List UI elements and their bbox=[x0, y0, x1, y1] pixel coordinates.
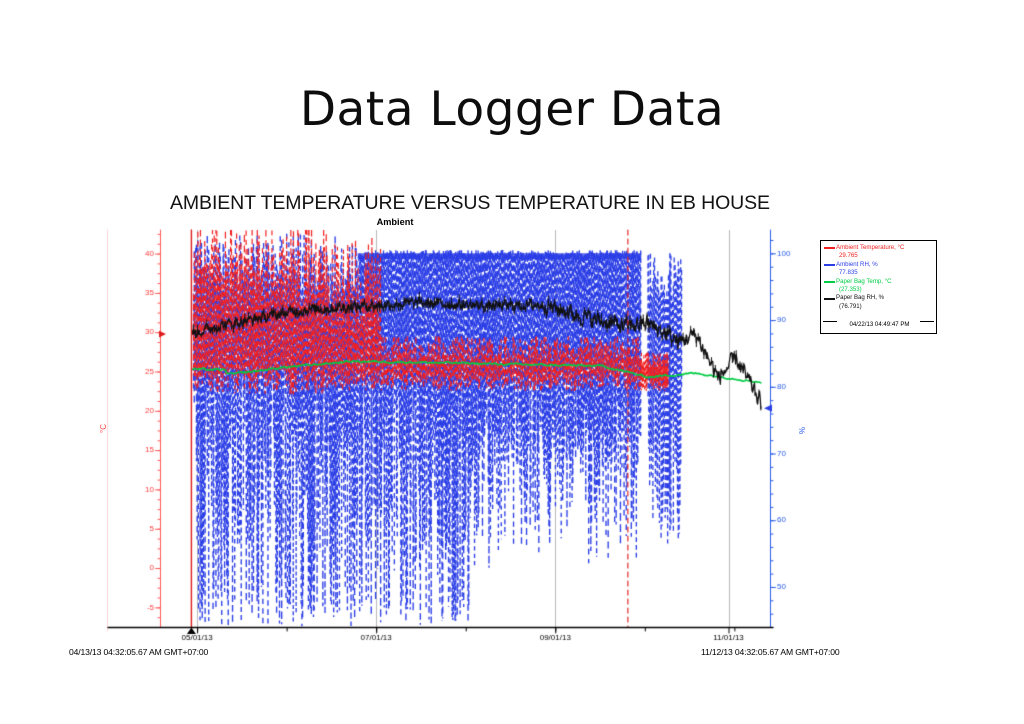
legend-swatch-paper-bag-temp bbox=[824, 281, 835, 283]
y-axis-left-title: °C bbox=[99, 424, 108, 433]
legend-item-ambient-rh[interactable]: Ambient RH, % 77.835 bbox=[823, 261, 936, 278]
chart-legend[interactable]: Ambient Temperature, °C 29.765 Ambient R… bbox=[820, 240, 937, 334]
legend-swatch-ambient-rh bbox=[824, 264, 835, 266]
page-title: Data Logger Data bbox=[0, 82, 1024, 138]
legend-swatch-ambient-temperature bbox=[824, 247, 835, 249]
legend-item-ambient-temperature[interactable]: Ambient Temperature, °C 29.765 bbox=[823, 244, 936, 261]
legend-value-ambient-temperature: 29.765 bbox=[836, 252, 936, 260]
x-axis-end-timestamp: 11/12/13 04:32:05.67 AM GMT+07:00 bbox=[701, 647, 839, 657]
legend-label-ambient-rh: Ambient RH, % bbox=[836, 261, 936, 269]
legend-label-paper-bag-rh: Paper Bag RH, % bbox=[836, 294, 936, 302]
chart-subtitle: AMBIENT TEMPERATURE VERSUS TEMPERATURE I… bbox=[170, 192, 770, 215]
legend-value-paper-bag-temp: (27.353) bbox=[836, 286, 936, 294]
x-axis-start-timestamp: 04/13/13 04:32:05.67 AM GMT+07:00 bbox=[69, 647, 208, 657]
legend-value-ambient-rh: 77.835 bbox=[836, 269, 936, 277]
legend-swatch-paper-bag-rh bbox=[824, 298, 835, 300]
legend-item-paper-bag-temp[interactable]: Paper Bag Temp, °C (27.353) bbox=[823, 278, 936, 295]
legend-value-paper-bag-rh: (76.791) bbox=[836, 303, 936, 311]
legend-timestamp: 04/22/13 04:49:47 PM bbox=[823, 321, 936, 329]
legend-label-ambient-temperature: Ambient Temperature, °C bbox=[836, 244, 936, 252]
legend-item-paper-bag-rh[interactable]: Paper Bag RH, % (76.791) bbox=[823, 294, 936, 311]
y-axis-right-title: % bbox=[798, 427, 807, 434]
legend-label-paper-bag-temp: Paper Bag Temp, °C bbox=[836, 278, 936, 286]
slide-canvas: Data Logger Data AMBIENT TEMPERATURE VER… bbox=[0, 0, 1024, 724]
